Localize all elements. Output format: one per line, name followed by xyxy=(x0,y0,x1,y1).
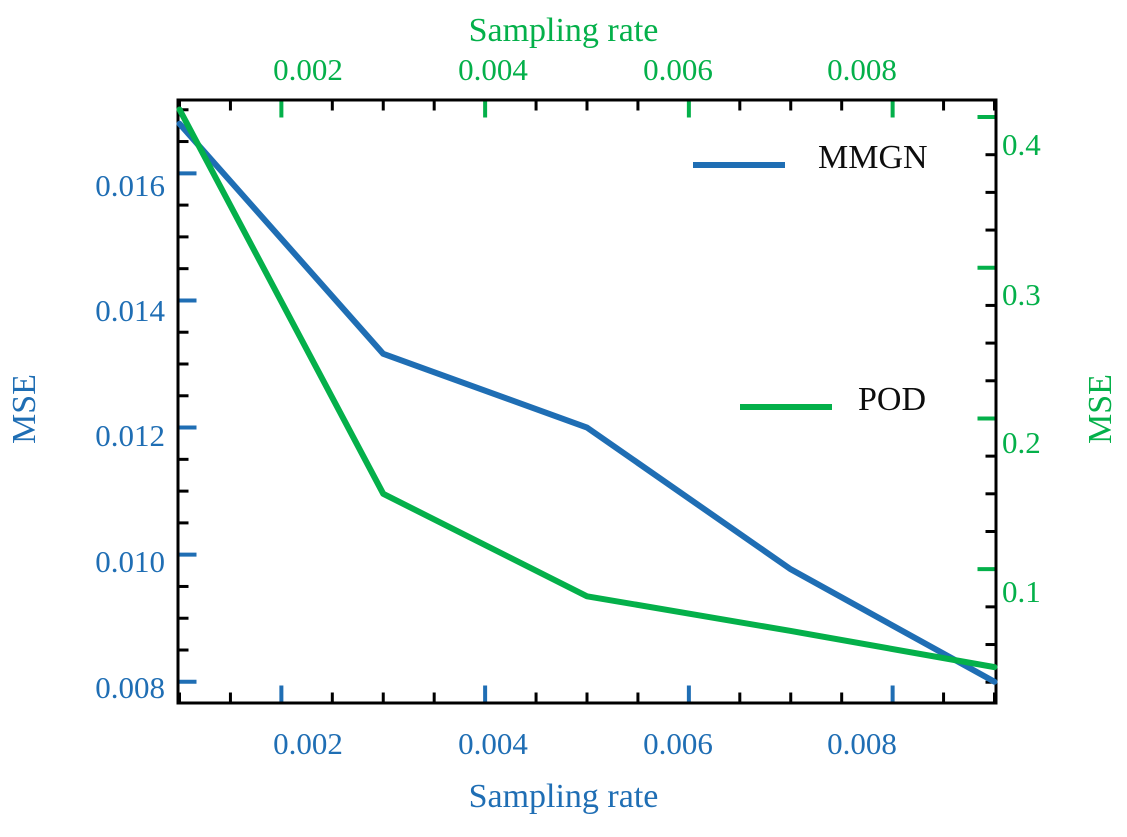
chart-figure: Sampling rate 0.002 0.004 0.006 0.008 MS… xyxy=(0,0,1127,837)
series-line-pod xyxy=(180,109,995,667)
legend-swatches xyxy=(693,165,832,407)
plot-canvas xyxy=(0,0,1127,837)
data-lines xyxy=(180,109,995,681)
